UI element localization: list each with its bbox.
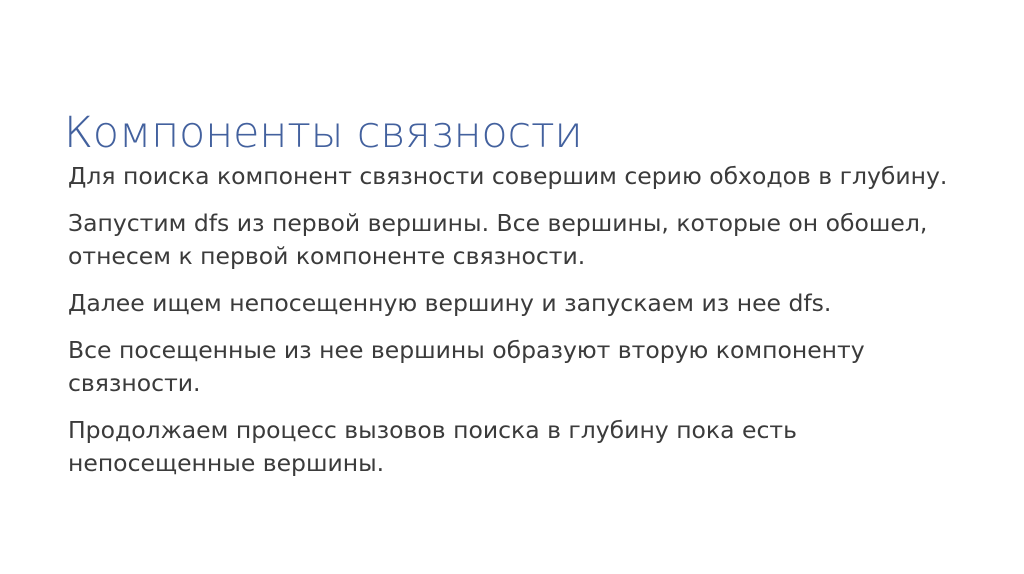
body-paragraph: Запустим dfs из первой вершины. Все верш… — [68, 207, 954, 273]
page-title: Компоненты связности — [64, 107, 964, 159]
slide-body-text: Для поиска компонент связности совершим … — [68, 160, 954, 480]
body-paragraph: Далее ищем непосещенную вершину и запуск… — [68, 287, 954, 320]
slide-canvas: Компоненты связности Для поиска компонен… — [0, 0, 1024, 574]
body-paragraph: Для поиска компонент связности совершим … — [68, 160, 954, 193]
body-paragraph: Продолжаем процесс вызовов поиска в глуб… — [68, 414, 954, 480]
body-paragraph: Все посещенные из нее вершины образуют в… — [68, 334, 954, 400]
